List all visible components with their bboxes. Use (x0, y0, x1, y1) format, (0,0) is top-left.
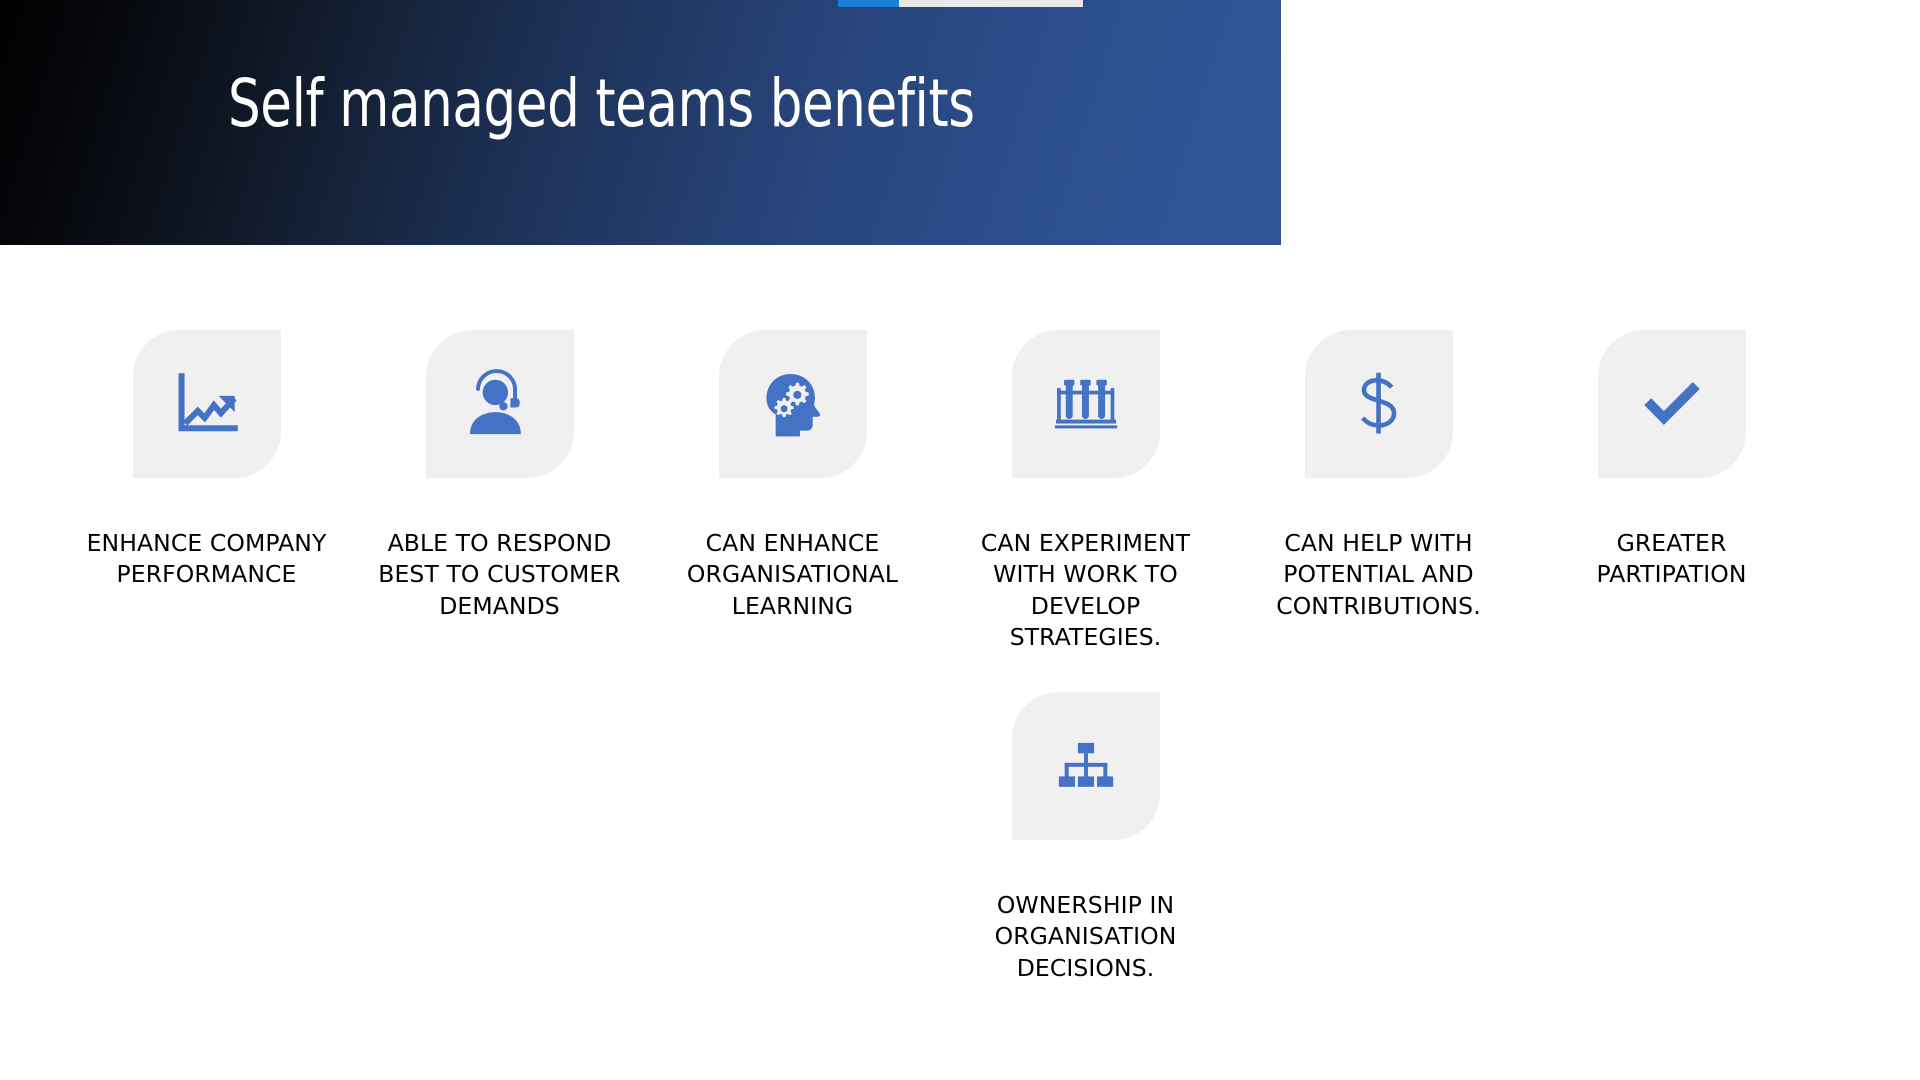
icon-tile (1305, 330, 1453, 478)
icon-tile (719, 330, 867, 478)
benefits-row-primary: ENHANCE COMPANY PERFORMANCE (60, 330, 1870, 653)
benefit-item-organisational-learning[interactable]: CAN ENHANCE ORGANISATIONAL LEARNING (646, 330, 939, 622)
icon-tile (1012, 330, 1160, 478)
benefits-row-secondary: OWNERSHIP IN ORGANISATION DECISIONS. (60, 692, 1870, 984)
benefit-label: GREATER PARTIPATION (1547, 528, 1797, 591)
benefit-item-experiment-develop-strategies[interactable]: CAN EXPERIMENT WITH WORK TO DEVELOP STRA… (939, 330, 1232, 653)
benefit-label: CAN HELP WITH POTENTIAL AND CONTRIBUTION… (1254, 528, 1504, 622)
benefit-label: OWNERSHIP IN ORGANISATION DECISIONS. (961, 890, 1211, 984)
line-chart-growth-icon (170, 367, 244, 441)
icon-tile (1012, 692, 1160, 840)
banner-gradient-right (1281, 0, 1920, 245)
benefit-item-ownership-in-decisions[interactable]: OWNERSHIP IN ORGANISATION DECISIONS. (939, 692, 1232, 984)
benefit-item-respond-to-customer-demands[interactable]: ABLE TO RESPOND BEST TO CUSTOMER DEMANDS (353, 330, 646, 622)
test-tubes-rack-icon (1049, 367, 1123, 441)
progress-bar-fill (838, 0, 899, 7)
icon-tile (426, 330, 574, 478)
benefit-label: ENHANCE COMPANY PERFORMANCE (82, 528, 332, 591)
head-with-gears-icon (756, 367, 830, 441)
headset-support-agent-icon (463, 367, 537, 441)
slide-canvas: Self managed teams benefits (0, 0, 1920, 1080)
benefit-label: CAN EXPERIMENT WITH WORK TO DEVELOP STRA… (961, 528, 1211, 653)
checkmark-icon (1635, 367, 1709, 441)
content-area: ENHANCE COMPANY PERFORMANCE (0, 245, 1920, 1080)
benefit-label: ABLE TO RESPOND BEST TO CUSTOMER DEMANDS (375, 528, 625, 622)
icon-tile (1598, 330, 1746, 478)
benefit-item-greater-participation[interactable]: GREATER PARTIPATION (1525, 330, 1818, 591)
benefit-label: CAN ENHANCE ORGANISATIONAL LEARNING (668, 528, 918, 622)
dollar-sign-icon (1342, 367, 1416, 441)
page-title: Self managed teams benefits (228, 68, 1008, 139)
icon-tile (133, 330, 281, 478)
org-chart-hierarchy-icon (1049, 729, 1123, 803)
progress-bar-track[interactable] (838, 0, 1083, 7)
benefit-item-enhance-company-performance[interactable]: ENHANCE COMPANY PERFORMANCE (60, 330, 353, 591)
benefit-item-potential-and-contributions[interactable]: CAN HELP WITH POTENTIAL AND CONTRIBUTION… (1232, 330, 1525, 622)
